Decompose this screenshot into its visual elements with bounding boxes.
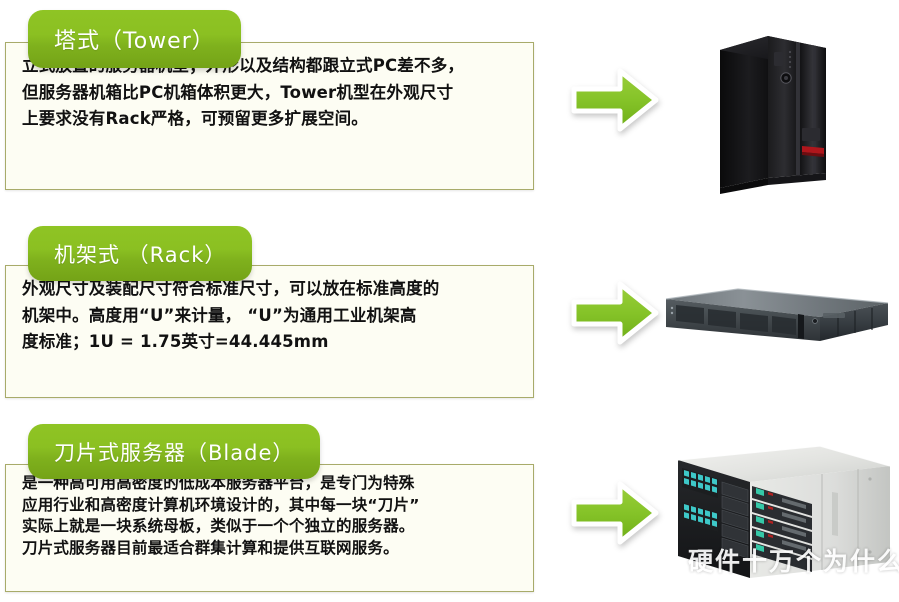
rack-title-pill[interactable]: 机架式 （Rack） (28, 226, 252, 281)
blade-info-box: 是一种高可用高密度的低成本服务器平台，是专门为特殊 应用行业和高密度计算机环境设… (5, 464, 534, 592)
slide-root: 立式放置的服务器机型；外形以及结构都跟立式PC差不多， 但服务器机箱比PC机箱体… (0, 0, 899, 602)
blade-title-pill[interactable]: 刀片式服务器（Blade） (28, 424, 320, 479)
section-blade: 是一种高可用高密度的低成本服务器平台，是专门为特殊 应用行业和高密度计算机环境设… (0, 406, 899, 602)
right-arrow-icon (568, 278, 660, 348)
wechat-icon (652, 548, 682, 572)
watermark-text: 硬件十万个为什么 (688, 542, 899, 578)
tower-title-pill[interactable]: 塔式（Tower） (28, 10, 241, 68)
tower-server-image (708, 28, 840, 196)
right-arrow-icon (568, 65, 660, 135)
rack-info-box: 外观尺寸及装配尺寸符合标准尺寸，可以放在标准高度的 机架中。高度用“U”来计量，… (5, 265, 534, 398)
section-tower: 立式放置的服务器机型；外形以及结构都跟立式PC差不多， 但服务器机箱比PC机箱体… (0, 0, 899, 200)
right-arrow-icon (568, 478, 660, 548)
blade-body-text: 是一种高可用高密度的低成本服务器平台，是专门为特殊 应用行业和高密度计算机环境设… (6, 465, 533, 568)
section-rack: 外观尺寸及装配尺寸符合标准尺寸，可以放在标准高度的 机架中。高度用“U”来计量，… (0, 203, 899, 403)
rack-server-image (652, 283, 890, 353)
watermark: 硬件十万个为什么 (652, 542, 899, 578)
